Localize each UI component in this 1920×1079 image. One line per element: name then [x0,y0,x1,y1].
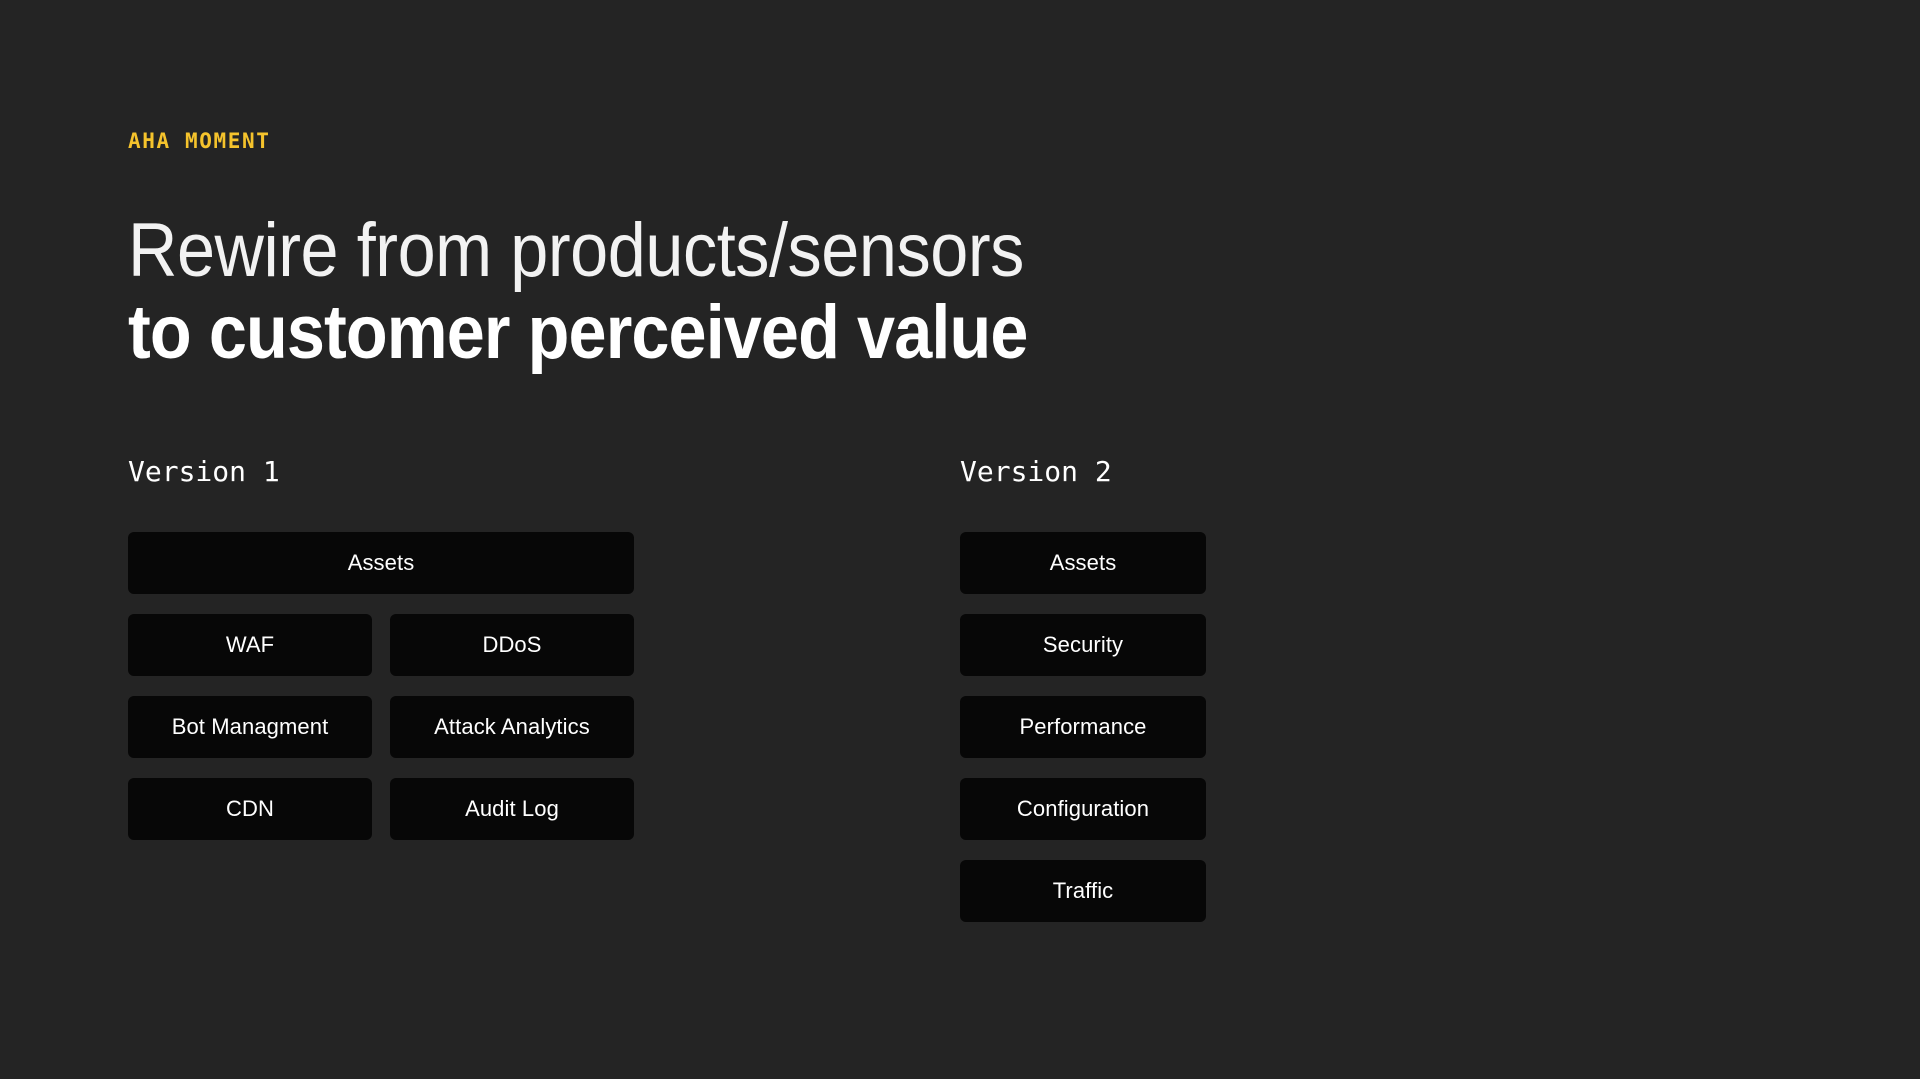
chip-row: Security [960,614,1206,676]
eyebrow-label: AHA MOMENT [128,131,270,152]
chip-list-version-2: Assets Security Performance Configuratio… [960,532,1206,922]
chip-row: Traffic [960,860,1206,922]
chip-assets[interactable]: Assets [128,532,634,594]
page-title: Rewire from products/sensors to customer… [128,212,1428,372]
version-comparison: Version 1 Assets WAF DDoS Bot Managment … [128,458,1328,922]
chip-row: Configuration [960,778,1206,840]
chip-row: CDN Audit Log [128,778,634,840]
chip-audit-log[interactable]: Audit Log [390,778,634,840]
slide-root: AHA MOMENT Rewire from products/sensors … [0,0,1920,1079]
chip-ddos[interactable]: DDoS [390,614,634,676]
headline-line-1: Rewire from products/sensors [128,212,1298,290]
chip-list-version-1: Assets WAF DDoS Bot Managment Attack Ana… [128,532,634,840]
chip-row: Assets [128,532,634,594]
chip-configuration[interactable]: Configuration [960,778,1206,840]
chip-cdn[interactable]: CDN [128,778,372,840]
chip-row: WAF DDoS [128,614,634,676]
chip-row: Performance [960,696,1206,758]
column-version-2: Version 2 Assets Security Performance Co… [960,458,1206,922]
chip-row: Assets [960,532,1206,594]
chip-bot-managment[interactable]: Bot Managment [128,696,372,758]
chip-row: Bot Managment Attack Analytics [128,696,634,758]
chip-attack-analytics[interactable]: Attack Analytics [390,696,634,758]
column-version-1: Version 1 Assets WAF DDoS Bot Managment … [128,458,634,922]
column-title-version-2: Version 2 [960,458,1206,486]
chip-waf[interactable]: WAF [128,614,372,676]
chip-performance[interactable]: Performance [960,696,1206,758]
chip-security[interactable]: Security [960,614,1206,676]
chip-traffic[interactable]: Traffic [960,860,1206,922]
chip-assets-v2[interactable]: Assets [960,532,1206,594]
column-title-version-1: Version 1 [128,458,634,486]
headline-line-2: to customer perceived value [128,294,1298,372]
